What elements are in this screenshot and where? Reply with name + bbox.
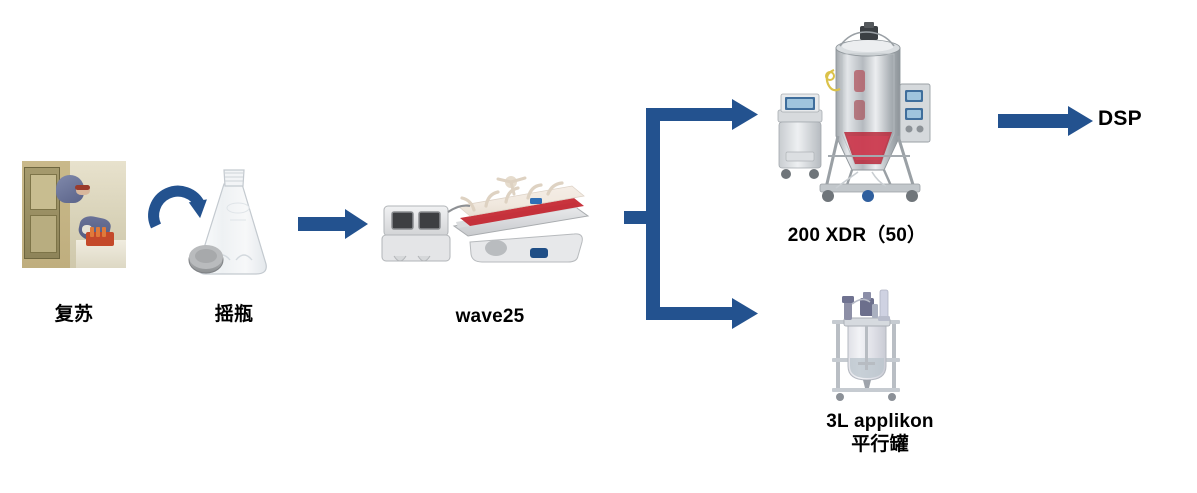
node-label-dsp: DSP [1098,106,1188,132]
node-thaw-photo [22,161,126,268]
node-wave25 [378,172,590,282]
process-flow-diagram: 复苏 [0,0,1197,493]
node-label-xdr200: 200 XDR（50） [760,224,954,247]
node-applikon [820,290,930,402]
operator-goggles [75,185,90,190]
node-label-wave25: wave25 [420,305,560,328]
node-label-applikon: 3L applikon 平行罐 [790,410,970,456]
node-label-thaw: 复苏 [12,303,136,326]
connector-arrow-xdr-to-dsp [998,103,1096,139]
vial [102,227,106,237]
node-xdr200 [768,24,946,206]
connector-split-arrow [624,104,764,324]
vial [90,227,94,237]
connector-arrow-flask-to-wave25 [298,206,370,242]
node-label-shake-flask: 摇瓶 [170,303,298,326]
vial [96,227,100,237]
node-shake-flask [186,164,282,288]
